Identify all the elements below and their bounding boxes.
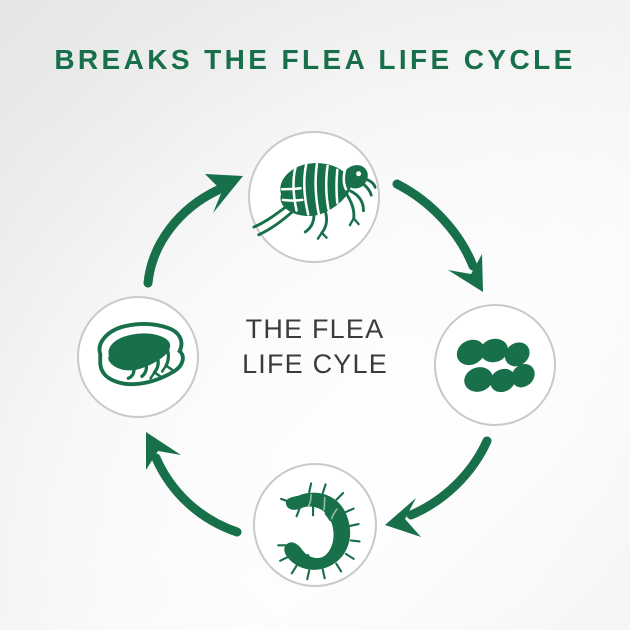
arrow-eggs-to-larva — [385, 441, 487, 537]
center-label-line-1: THE FLEA — [0, 312, 630, 347]
arrow-pupa-to-adult — [148, 174, 243, 283]
page-title: BREAKS THE FLEA LIFE CYCLE — [0, 44, 630, 76]
flea-larva-icon — [255, 465, 375, 585]
center-label: THE FLEA LIFE CYLE — [0, 312, 630, 382]
arrow-adult-to-eggs — [397, 184, 483, 292]
flea-life-cycle-infographic: BREAKS THE FLEA LIFE CYCLE .arrowstroke … — [0, 0, 630, 630]
center-label-line-2: LIFE CYLE — [0, 347, 630, 382]
cycle-node-flea-larva[interactable] — [253, 463, 377, 587]
cycle-node-adult-flea[interactable] — [248, 131, 380, 263]
arrow-larva-to-pupa — [146, 432, 237, 532]
adult-flea-icon — [250, 133, 378, 261]
